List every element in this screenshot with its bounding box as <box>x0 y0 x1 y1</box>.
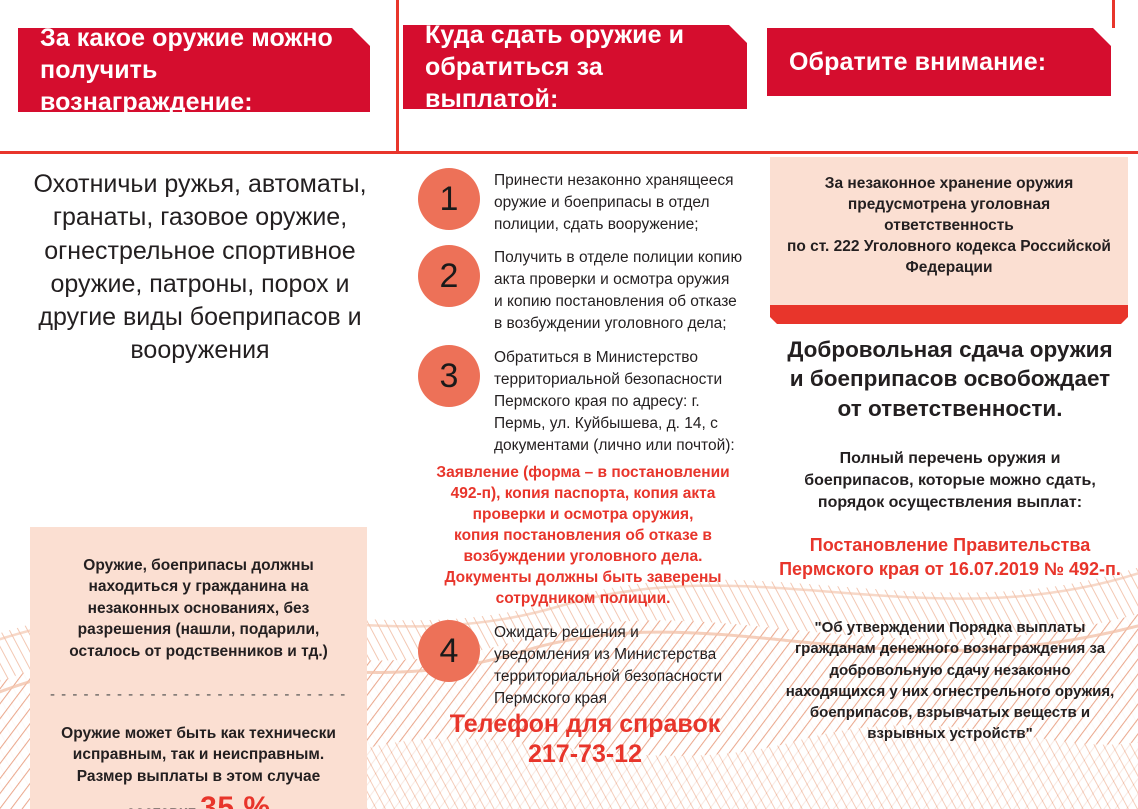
right-headline: Добровольная сдача оружия и боеприпасов … <box>770 335 1130 423</box>
banner-left: За какое оружие можно получить вознаграж… <box>18 28 370 112</box>
step-number-badge-4: 4 <box>418 620 480 682</box>
step-number-badge-2: 2 <box>418 245 480 307</box>
step-item-1: 1 Принести незаконно хранящееся оружие и… <box>418 168 754 236</box>
rule-mid-top <box>404 151 758 154</box>
step-item-4: 4 Ожидать решения и уведомления из Минис… <box>418 620 754 710</box>
right-warning-panel: За незаконное хранение оружия предусмотр… <box>770 157 1128 305</box>
left-note-bottom-prefix: Оружие может быть как технически исправн… <box>61 725 336 809</box>
right-decree-title-quote: "Об утверждении Порядка выплаты граждана… <box>782 617 1118 745</box>
right-decree-reference: Постановление Правительства Пермского кр… <box>774 533 1126 582</box>
banner-right-title: Обратите внимание: <box>789 46 1046 78</box>
left-note-divider: - - - - - - - - - - - - - - - - - - - - … <box>50 686 347 703</box>
helpline-block: Телефон для справок 217-73-12 <box>420 710 750 769</box>
step-number-badge-1: 1 <box>418 168 480 230</box>
rule-column-divider-left <box>396 0 399 151</box>
left-note-bottom-text: Оружие может быть как технически исправн… <box>50 723 347 809</box>
helpline-number[interactable]: 217-73-12 <box>420 739 750 769</box>
step-item-3: 3 Обратиться в Министерство территориаль… <box>418 345 754 457</box>
helpline-label: Телефон для справок <box>420 710 750 739</box>
payout-percent-value: 35 % <box>200 791 270 809</box>
step-item-2: 2 Получить в отделе полиции копию акта п… <box>418 245 754 335</box>
step-number-badge-3: 3 <box>418 345 480 407</box>
left-note-panel: Оружие, боеприпасы должны находиться у г… <box>30 527 367 809</box>
banner-right: Обратите внимание: <box>767 28 1111 96</box>
rule-left-top <box>0 151 404 154</box>
column-right: За незаконное хранение оружия предусмотр… <box>760 0 1138 809</box>
required-documents-list: Заявление (форма – в постановлении 492-п… <box>418 463 748 609</box>
right-red-bar <box>770 305 1128 324</box>
infographic-poster: За какое оружие можно получить вознаграж… <box>0 0 1138 809</box>
banner-middle-title: Куда сдать оружие и обратиться за выплат… <box>425 19 725 115</box>
right-warning-text: За незаконное хранение оружия предусмотр… <box>786 173 1112 278</box>
banner-middle: Куда сдать оружие и обратиться за выплат… <box>403 25 747 109</box>
step-text-3: Обратиться в Министерство территориально… <box>494 345 735 457</box>
right-subheadline: Полный перечень оружия и боеприпасов, ко… <box>780 448 1120 514</box>
step-text-1: Принести незаконно хранящееся оружие и б… <box>494 168 734 236</box>
left-lead-text: Охотничьи ружья, автоматы, гранаты, газо… <box>22 168 378 368</box>
banner-left-title: За какое оружие можно получить вознаграж… <box>40 22 348 118</box>
left-note-top-text: Оружие, боеприпасы должны находиться у г… <box>50 555 347 662</box>
step-text-4: Ожидать решения и уведомления из Министе… <box>494 620 722 710</box>
step-text-2: Получить в отделе полиции копию акта про… <box>494 245 742 335</box>
